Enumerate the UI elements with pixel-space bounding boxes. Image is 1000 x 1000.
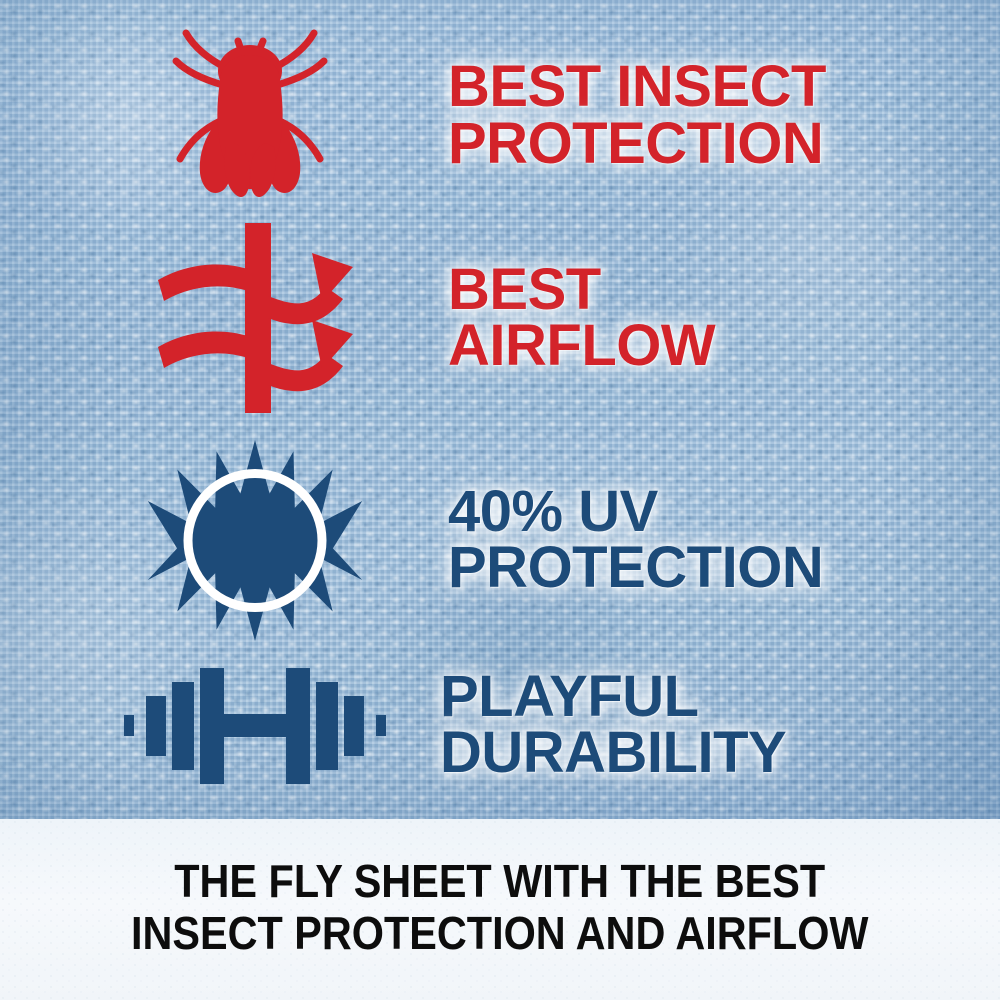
- feature-item-airflow: BEST AIRFLOW: [150, 218, 980, 418]
- caption-banner: THE FLY SHEET WITH THE BEST INSECT PROTE…: [0, 819, 1000, 1000]
- feature-label-uv-protection: 40% UV PROTECTION: [448, 484, 823, 597]
- caption-headline: THE FLY SHEET WITH THE BEST INSECT PROTE…: [131, 856, 869, 963]
- feature-label-insect-protection: BEST INSECT PROTECTION: [448, 59, 826, 172]
- feature-label-durability: PLAYFUL DURABILITY: [440, 669, 786, 782]
- fly-icon-wrapper: [150, 23, 350, 208]
- sun-uv-icon: [150, 438, 360, 643]
- product-feature-infographic: BEST INSECT PROTECTION: [0, 0, 1000, 1000]
- fly-icon: [150, 23, 350, 208]
- airflow-arrows-icon: [150, 223, 350, 413]
- airflow-icon-wrapper: [150, 223, 350, 413]
- feature-item-insect-protection: BEST INSECT PROTECTION: [150, 18, 980, 213]
- feature-label-airflow: BEST AIRFLOW: [448, 262, 715, 375]
- sun-icon-wrapper: [150, 438, 360, 643]
- dumbbell-icon: [120, 655, 390, 795]
- feature-item-durability: PLAYFUL DURABILITY: [120, 645, 980, 805]
- feature-list: BEST INSECT PROTECTION: [0, 0, 1000, 819]
- dumbbell-icon-wrapper: [120, 655, 390, 795]
- feature-item-uv-protection: 40% UV PROTECTION: [150, 435, 980, 645]
